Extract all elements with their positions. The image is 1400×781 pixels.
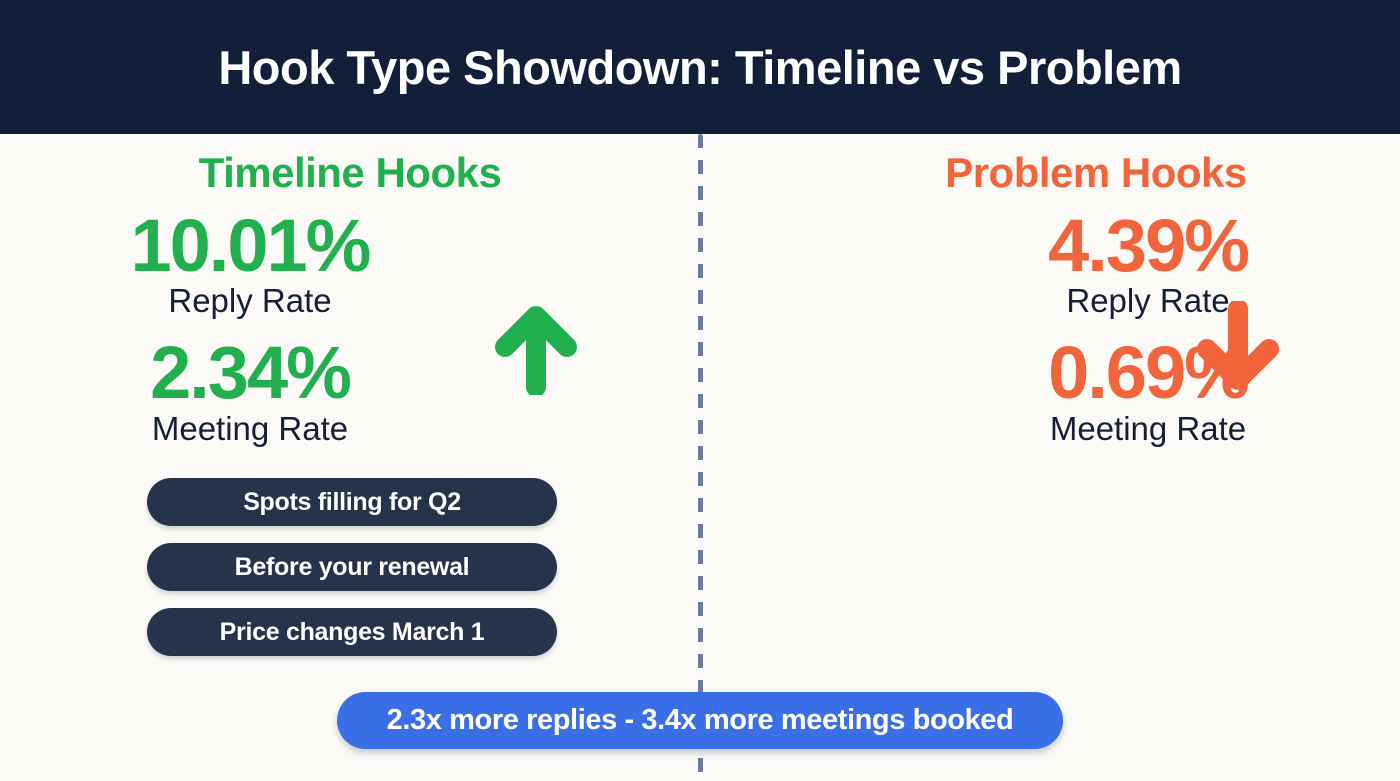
chip-timeline-3[interactable]: Price changes March 1 bbox=[147, 608, 557, 656]
chip-list-timeline: Spots filling for Q2 Before your renewal… bbox=[147, 478, 557, 673]
stats-problem: 4.39% Reply Rate 0.69% Meeting Rate bbox=[700, 206, 1400, 447]
stat-value-meeting-rate-problem: 0.69% bbox=[896, 333, 1400, 412]
stat-value-reply-rate-timeline: 10.01% bbox=[0, 206, 500, 285]
center-divider bbox=[698, 134, 703, 781]
stat-label-reply-rate-timeline: Reply Rate bbox=[0, 283, 500, 319]
header-bar: Hook Type Showdown: Timeline vs Problem bbox=[0, 0, 1400, 134]
summary-banner: 2.3x more replies - 3.4x more meetings b… bbox=[337, 692, 1063, 749]
column-problem-hooks: Problem Hooks 4.39% Reply Rate 0.69% Mee… bbox=[700, 134, 1400, 781]
arrow-up-icon bbox=[493, 301, 579, 395]
column-heading-timeline: Timeline Hooks bbox=[0, 152, 750, 194]
column-heading-problem: Problem Hooks bbox=[700, 152, 1400, 194]
column-timeline-hooks: Timeline Hooks 10.01% Reply Rate 2.34% M… bbox=[0, 134, 700, 781]
chip-timeline-2[interactable]: Before your renewal bbox=[147, 543, 557, 591]
page-title: Hook Type Showdown: Timeline vs Problem bbox=[218, 44, 1181, 91]
arrow-down-icon bbox=[1195, 301, 1281, 395]
chip-timeline-1[interactable]: Spots filling for Q2 bbox=[147, 478, 557, 526]
stat-label-meeting-rate-timeline: Meeting Rate bbox=[0, 411, 500, 447]
stat-value-reply-rate-problem: 4.39% bbox=[896, 206, 1400, 285]
stat-label-reply-rate-problem: Reply Rate bbox=[896, 283, 1400, 319]
stat-label-meeting-rate-problem: Meeting Rate bbox=[896, 411, 1400, 447]
stats-timeline: 10.01% Reply Rate 2.34% Meeting Rate bbox=[0, 206, 700, 447]
stat-value-meeting-rate-timeline: 2.34% bbox=[0, 333, 500, 412]
